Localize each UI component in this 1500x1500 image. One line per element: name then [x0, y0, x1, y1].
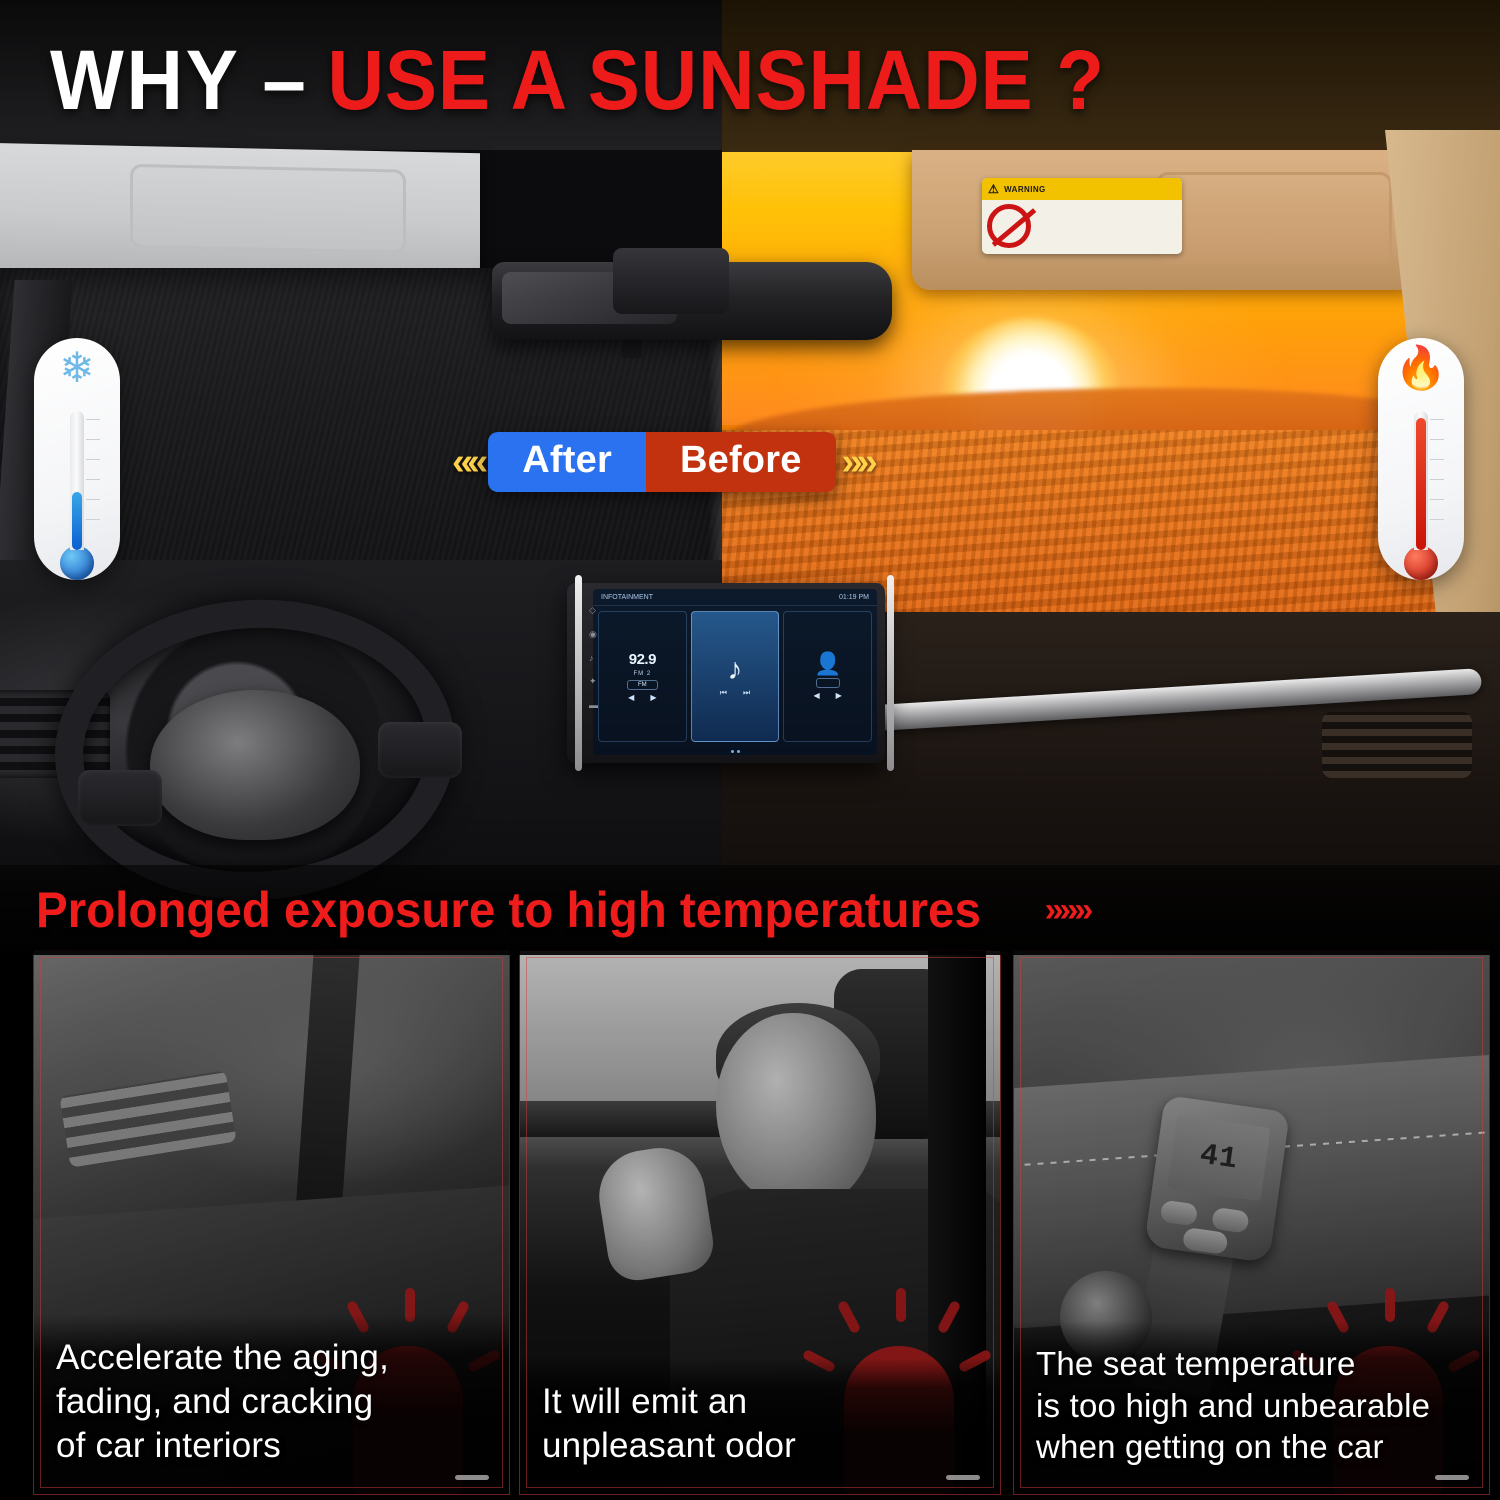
media-transport-controls[interactable]: ⏮ ⏭ — [720, 688, 750, 698]
radio-frequency: 92.9 — [629, 651, 656, 668]
warning-triangle-icon: ⚠ — [988, 183, 999, 195]
before-after-toggle[interactable]: «« After Before »» — [452, 432, 872, 492]
chevron-triple-right-icon: »»» — [1045, 891, 1090, 930]
page-title: WHY – USE A SUNSHADE ? — [50, 38, 1105, 122]
radio-tune-arrows[interactable]: ◀ ▶ — [628, 693, 656, 702]
panel-caption-1: Accelerate the aging, fading, and cracki… — [34, 1314, 509, 1494]
caption-text-3: The seat temperature is too high and unb… — [1036, 1343, 1471, 1468]
before-after-badge[interactable]: After Before — [488, 432, 835, 492]
radio-band: FM 2 — [634, 671, 652, 677]
screen-status-bar: INFOTAINMENT 01:19 PM — [593, 589, 877, 606]
title-word-why: WHY — [50, 33, 241, 127]
hot-thermometer-icon: 🔥 — [1378, 338, 1464, 580]
seat-next-icon[interactable]: ▶ — [836, 691, 842, 700]
visor-clip-left — [152, 176, 168, 238]
music-note-icon: ♪ — [728, 655, 743, 685]
panel-unpleasant-odor: It will emit an unpleasant odor — [519, 950, 1001, 1495]
caption-line: when getting on the car — [1036, 1426, 1471, 1468]
sun-visor-left — [0, 143, 480, 283]
power-key-icon[interactable]: ◉ — [589, 629, 598, 640]
subhead-bar: Prolonged exposure to high temperatures … — [0, 865, 1500, 955]
before-after-hero: ⚠ WARNING ◇ ◉ ♪ ✦ ▬ — [0, 0, 1500, 950]
air-vent-right — [1322, 712, 1472, 778]
caption-text-1: Accelerate the aging, fading, and cracki… — [56, 1336, 491, 1468]
caption-text-2: It will emit an unpleasant odor — [542, 1380, 982, 1468]
warning-label-bar: ⚠ WARNING — [982, 178, 1182, 200]
thermometer-bulb-hot — [1404, 546, 1438, 580]
panel-caption-2: It will emit an unpleasant odor — [520, 1358, 1000, 1494]
radio-next-icon[interactable]: ▶ — [650, 693, 656, 702]
caption-line: The seat temperature — [1036, 1343, 1471, 1385]
screen-brand: INFOTAINMENT — [601, 594, 653, 601]
steering-wheel-hub — [150, 690, 360, 840]
thermometer-tube-cold — [70, 411, 84, 550]
media-prev-icon[interactable]: ⏮ — [720, 688, 727, 698]
before-label[interactable]: Before — [646, 432, 836, 492]
cold-thermometer-icon: ❄ — [34, 338, 120, 580]
snowflake-icon: ❄ — [59, 348, 94, 409]
infotainment-head-unit[interactable]: ◇ ◉ ♪ ✦ ▬ INFOTAINMENT 01:19 PM 92.9 FM … — [567, 583, 885, 763]
page-dot[interactable] — [737, 750, 740, 753]
thermometer-tube-hot — [1414, 411, 1428, 550]
seat-card[interactable]: 👤 ◀ ▶ — [783, 611, 872, 742]
infotainment-screen[interactable]: INFOTAINMENT 01:19 PM 92.9 FM 2 FM ◀ ▶ — [593, 589, 877, 755]
panel-seat-temperature: 41 The seat temperature is too high an — [1013, 950, 1490, 1495]
seat-setting-pill[interactable] — [816, 678, 840, 688]
thermometer-fill-cold — [72, 492, 82, 550]
seat-adjust-arrows[interactable]: ◀ ▶ — [814, 691, 842, 700]
caption-line: fading, and cracking — [56, 1380, 491, 1424]
warning-label-body — [982, 200, 1182, 252]
caption-line: It will emit an — [542, 1380, 982, 1424]
thermometer-ticks-hot — [1430, 419, 1444, 543]
radio-source-pill[interactable]: FM — [627, 680, 658, 690]
home-key-icon[interactable]: ◇ — [589, 605, 598, 616]
screen-clock: 01:19 PM — [839, 594, 869, 601]
thermometer-reading: 41 — [1167, 1115, 1270, 1201]
caption-line: of car interiors — [56, 1424, 491, 1468]
after-label[interactable]: After — [488, 432, 646, 492]
seat-occupant-icon: 👤 — [814, 653, 841, 675]
thermometer-button — [1182, 1227, 1229, 1255]
radio-prev-icon[interactable]: ◀ — [628, 693, 634, 702]
thermometer-bulb-cold — [60, 546, 94, 580]
screen-page-dots[interactable] — [593, 747, 877, 755]
caption-line: is too high and unbearable — [1036, 1385, 1471, 1427]
screen-rail-right — [887, 575, 894, 771]
title-red-phrase: USE A SUNSHADE ? — [328, 33, 1105, 127]
panel-caption-3: The seat temperature is too high and unb… — [1014, 1321, 1489, 1494]
visor-warning-label: ⚠ WARNING — [982, 178, 1182, 254]
flame-icon: 🔥 — [1395, 348, 1447, 409]
warning-label-title: WARNING — [1004, 185, 1045, 194]
thermometer-button — [1211, 1207, 1250, 1234]
screen-cards: 92.9 FM 2 FM ◀ ▶ ♪ ⏮ ⏭ — [593, 606, 877, 747]
thermometer-ticks-cold — [86, 419, 100, 543]
person-head — [716, 1013, 876, 1209]
media-card[interactable]: ♪ ⏮ ⏭ — [691, 611, 780, 742]
thermometer-fill-hot — [1416, 418, 1426, 550]
chevron-right-icon: »» — [842, 443, 872, 481]
seat-prev-icon[interactable]: ◀ — [814, 691, 820, 700]
media-next-icon[interactable]: ⏭ — [743, 688, 750, 698]
title-dash: – — [262, 33, 305, 127]
infrared-thermometer-icon: 41 — [1144, 1095, 1290, 1263]
caption-underscore-mark — [946, 1475, 980, 1480]
steering-controls-left — [78, 770, 162, 826]
waving-hand-icon — [593, 1141, 718, 1284]
screen-hard-keys[interactable]: ◇ ◉ ♪ ✦ ▬ — [589, 605, 598, 710]
page-dot-active[interactable] — [731, 750, 734, 753]
radio-card[interactable]: 92.9 FM 2 FM ◀ ▶ — [598, 611, 687, 742]
defroster-vent-icon — [59, 1070, 236, 1167]
menu-key-icon[interactable]: ▬ — [589, 700, 598, 710]
volume-key-icon[interactable]: ♪ — [589, 653, 598, 663]
caption-underscore-mark — [1435, 1475, 1469, 1480]
no-child-seat-icon — [987, 204, 1031, 248]
subhead-text: Prolonged exposure to high temperatures — [36, 881, 981, 939]
thermometer-button — [1160, 1200, 1199, 1227]
caption-line: Accelerate the aging, — [56, 1336, 491, 1380]
apps-key-icon[interactable]: ✦ — [589, 676, 598, 687]
screen-rail-left — [575, 575, 582, 771]
steering-controls-right — [378, 722, 462, 778]
caption-line: unpleasant odor — [542, 1424, 982, 1468]
chevron-left-icon: «« — [452, 443, 482, 481]
consequence-panels: Accelerate the aging, fading, and cracki… — [0, 950, 1500, 1500]
sunshade-infographic-poster: ⚠ WARNING ◇ ◉ ♪ ✦ ▬ — [0, 0, 1500, 1500]
mirror-housing — [613, 248, 729, 314]
panel-interior-aging: Accelerate the aging, fading, and cracki… — [33, 950, 510, 1495]
caption-underscore-mark — [455, 1475, 489, 1480]
